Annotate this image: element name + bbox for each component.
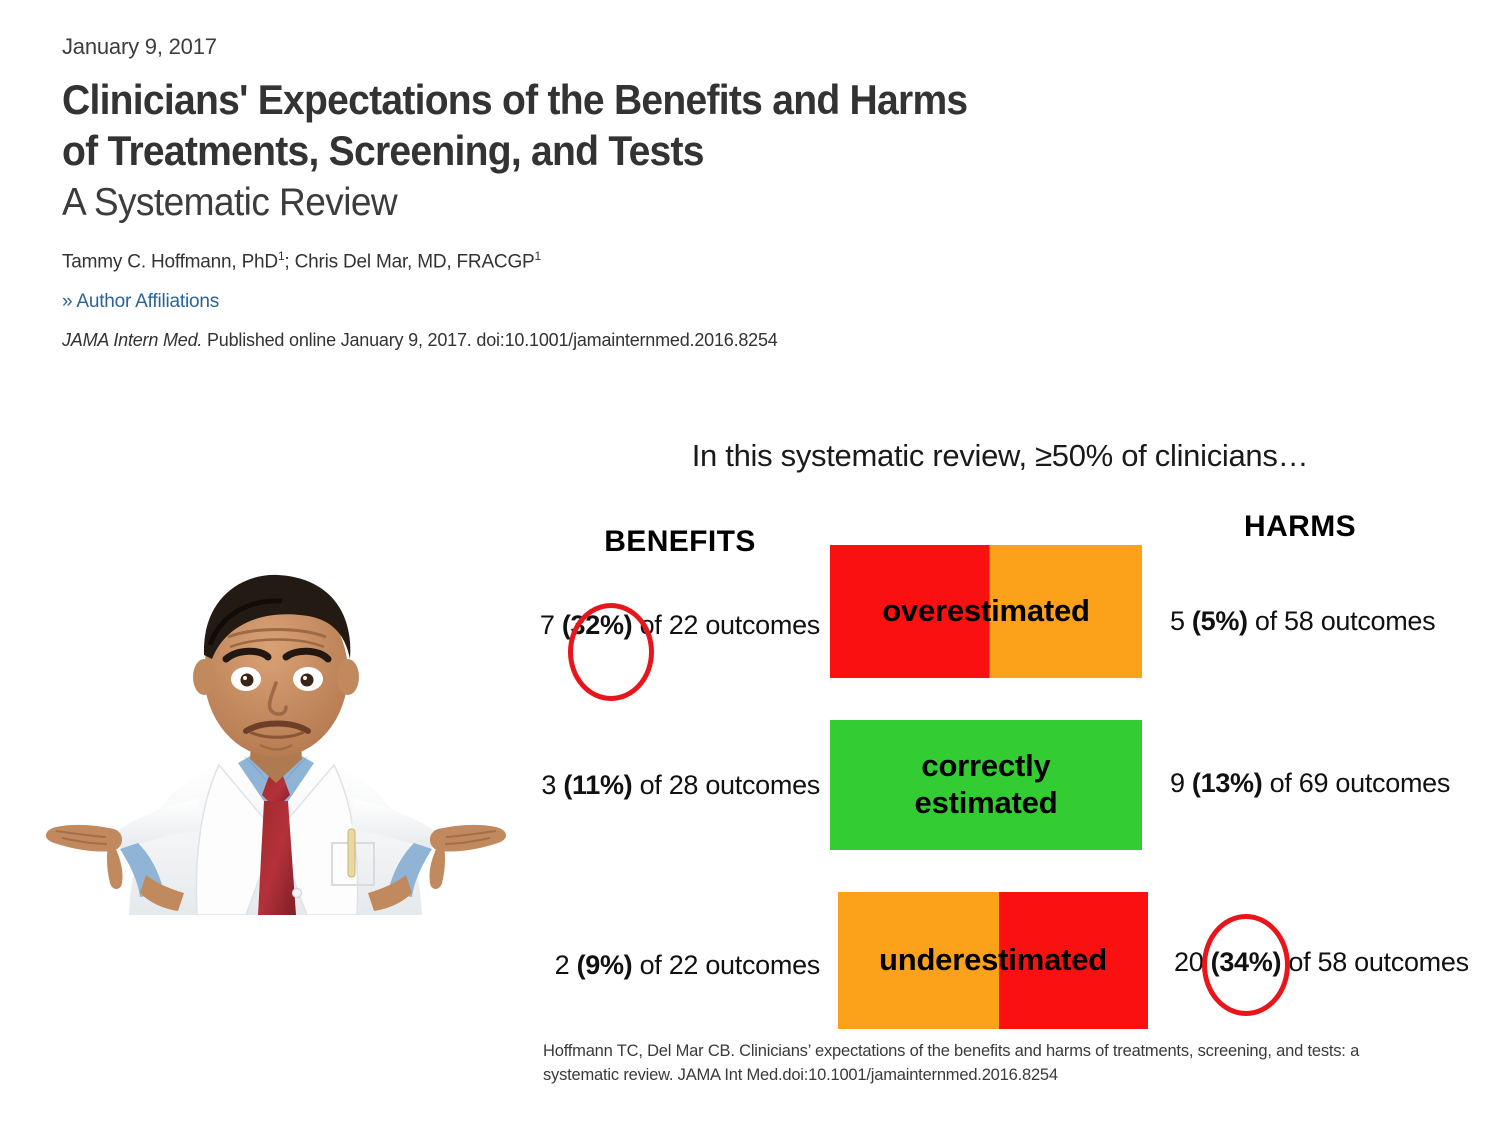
- harm-underestimated-percent: (34%): [1211, 947, 1282, 977]
- benefit-correctly-estimated-percent: (11%): [563, 770, 632, 800]
- category-box-underestimated: underestimated: [838, 892, 1148, 1029]
- author-affiliations-link[interactable]: »Author Affiliations: [62, 291, 219, 313]
- author-two-affiliation-marker: 1: [535, 249, 541, 263]
- infographic-lede: In this systematic review, ≥50% of clini…: [640, 438, 1360, 474]
- harm-underestimated-count: 20: [1174, 947, 1203, 977]
- benefit-underestimated-percent: (9%): [577, 950, 633, 980]
- journal-citation: JAMA Intern Med. Published online Januar…: [62, 330, 1062, 351]
- harm-underestimated-value: 20 (34%) of 58 outcomes: [1174, 947, 1469, 978]
- article-header: January 9, 2017 Clinicians' Expectations…: [62, 34, 1062, 351]
- benefit-overestimated-value: 7 (32%) of 22 outcomes: [250, 610, 820, 641]
- benefit-correctly-estimated-total: of 28 outcomes: [632, 770, 820, 800]
- harm-correctly-estimated-percent: (13%): [1192, 768, 1263, 798]
- publication-date: January 9, 2017: [62, 34, 1062, 60]
- article-title-line-1: Clinicians' Expectations of the Benefits…: [62, 76, 967, 123]
- harm-correctly-estimated-count: 9: [1170, 768, 1185, 798]
- figure-citation: Hoffmann TC, Del Mar CB. Clinicians’ exp…: [543, 1040, 1423, 1088]
- category-box-correctly-estimated: correctly estimated: [830, 720, 1142, 850]
- author-affiliations-label: Author Affiliations: [76, 291, 219, 312]
- figure-citation-line-1: Hoffmann TC, Del Mar CB. Clinicians’ exp…: [543, 1042, 1359, 1060]
- benefit-underestimated-value: 2 (9%) of 22 outcomes: [250, 950, 820, 981]
- article-subtitle: A Systematic Review: [62, 180, 1012, 227]
- benefit-overestimated-total: of 22 outcomes: [632, 610, 820, 640]
- category-label-correctly-estimated-line-2: estimated: [915, 785, 1058, 820]
- harm-overestimated-count: 5: [1170, 606, 1185, 636]
- harms-column-header: HARMS: [1165, 510, 1435, 544]
- double-chevron-right-icon: »: [62, 291, 72, 312]
- benefit-underestimated-count: 2: [555, 950, 570, 980]
- infographic-panel: In this systematic review, ≥50% of clini…: [0, 420, 1500, 1125]
- category-label-overestimated: overestimated: [882, 593, 1090, 630]
- benefits-column-header: BENEFITS: [540, 525, 820, 559]
- author-one: Tammy C. Hoffmann, PhD: [62, 252, 278, 273]
- category-label-correctly-estimated-line-1: correctly: [921, 748, 1050, 783]
- category-box-overestimated: overestimated: [830, 545, 1142, 678]
- benefit-correctly-estimated-count: 3: [541, 770, 556, 800]
- benefit-correctly-estimated-value: 3 (11%) of 28 outcomes: [250, 770, 820, 801]
- harm-overestimated-percent: (5%): [1192, 606, 1248, 636]
- figure-citation-line-2: systematic review. JAMA Int Med.doi:10.1…: [543, 1066, 1058, 1084]
- category-label-correctly-estimated: correctly estimated: [915, 748, 1058, 821]
- authors-line: Tammy C. Hoffmann, PhD1; Chris Del Mar, …: [62, 249, 1062, 273]
- author-separator: ; Chris Del Mar, MD, FRACGP: [284, 252, 534, 273]
- category-label-underestimated: underestimated: [879, 942, 1107, 979]
- benefit-underestimated-total: of 22 outcomes: [632, 950, 820, 980]
- harm-correctly-estimated-value: 9 (13%) of 69 outcomes: [1170, 768, 1450, 799]
- article-title-line-2: of Treatments, Screening, and Tests: [62, 127, 704, 174]
- benefit-overestimated-percent: (32%): [562, 610, 633, 640]
- benefit-overestimated-count: 7: [540, 610, 555, 640]
- page-title: Clinicians' Expectations of the Benefits…: [62, 74, 992, 176]
- harm-overestimated-total: of 58 outcomes: [1248, 606, 1436, 636]
- harm-underestimated-total: of 58 outcomes: [1281, 947, 1469, 977]
- harm-overestimated-value: 5 (5%) of 58 outcomes: [1170, 606, 1435, 637]
- journal-name: JAMA Intern Med.: [62, 330, 202, 350]
- harm-correctly-estimated-total: of 69 outcomes: [1262, 768, 1450, 798]
- journal-citation-detail: Published online January 9, 2017. doi:10…: [202, 330, 777, 350]
